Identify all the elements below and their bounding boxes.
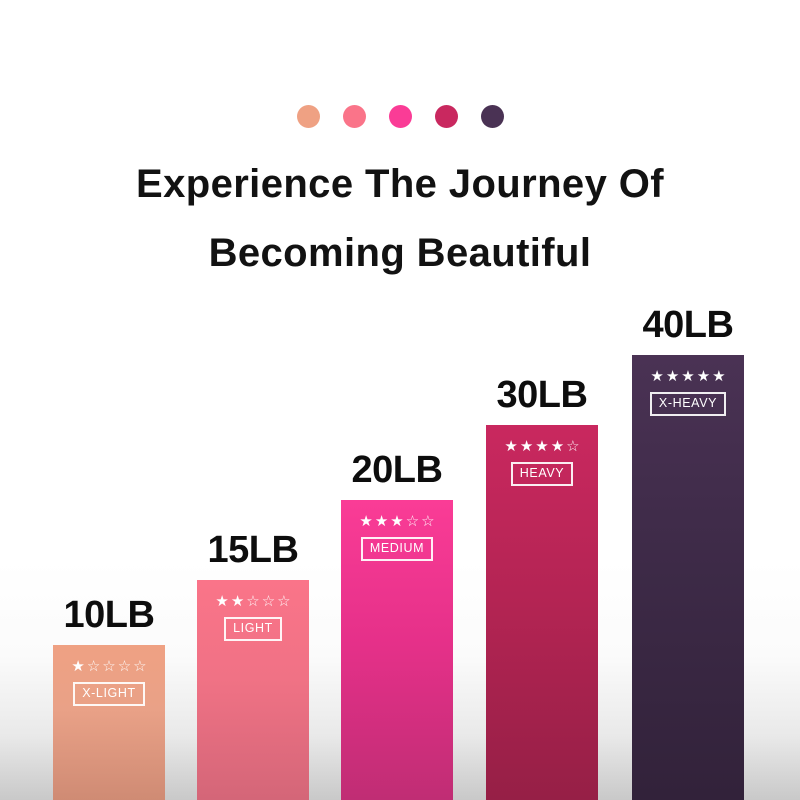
- star-filled-icon: ★: [535, 439, 548, 454]
- bar-fill: ★★★☆☆MEDIUM: [341, 500, 453, 800]
- bar-value-label: 10LB: [64, 594, 155, 645]
- bar-group-x-light[interactable]: 10LB★☆☆☆☆X-LIGHT: [53, 645, 165, 800]
- star-rating: ★★★★★: [650, 369, 725, 384]
- bar-group-medium[interactable]: 20LB★★★☆☆MEDIUM: [341, 500, 453, 800]
- bar-group-light[interactable]: 15LB★★☆☆☆LIGHT: [197, 580, 309, 800]
- level-badge: HEAVY: [511, 462, 573, 486]
- star-filled-icon: ★: [697, 369, 710, 384]
- star-empty-icon: ☆: [102, 659, 115, 674]
- star-filled-icon: ★: [231, 594, 244, 609]
- star-empty-icon: ☆: [133, 659, 146, 674]
- bar-fill: ★★★★★X-HEAVY: [632, 355, 744, 800]
- star-rating: ★☆☆☆☆: [71, 659, 146, 674]
- star-filled-icon: ★: [551, 439, 564, 454]
- star-filled-icon: ★: [504, 439, 517, 454]
- bar-value-label: 15LB: [208, 529, 299, 580]
- bar-group-x-heavy[interactable]: 40LB★★★★★X-HEAVY: [632, 355, 744, 800]
- star-filled-icon: ★: [359, 514, 372, 529]
- star-empty-icon: ☆: [118, 659, 131, 674]
- star-filled-icon: ★: [666, 369, 679, 384]
- star-rating: ★★★☆☆: [359, 514, 434, 529]
- bar-value-label: 40LB: [643, 304, 734, 355]
- bar-fill: ★★☆☆☆LIGHT: [197, 580, 309, 800]
- star-empty-icon: ☆: [277, 594, 290, 609]
- star-filled-icon: ★: [390, 514, 403, 529]
- level-badge: MEDIUM: [361, 537, 433, 561]
- bar-group-heavy[interactable]: 30LB★★★★☆HEAVY: [486, 425, 598, 800]
- star-empty-icon: ☆: [406, 514, 419, 529]
- bar-fill: ★★★★☆HEAVY: [486, 425, 598, 800]
- star-empty-icon: ☆: [87, 659, 100, 674]
- star-filled-icon: ★: [215, 594, 228, 609]
- star-filled-icon: ★: [681, 369, 694, 384]
- star-empty-icon: ☆: [246, 594, 259, 609]
- bar-value-label: 30LB: [497, 374, 588, 425]
- star-filled-icon: ★: [650, 369, 663, 384]
- level-badge: X-LIGHT: [73, 682, 145, 706]
- star-filled-icon: ★: [71, 659, 84, 674]
- level-badge: X-HEAVY: [650, 392, 726, 416]
- star-filled-icon: ★: [375, 514, 388, 529]
- star-filled-icon: ★: [712, 369, 725, 384]
- star-filled-icon: ★: [520, 439, 533, 454]
- bar-value-label: 20LB: [352, 449, 443, 500]
- star-rating: ★★★★☆: [504, 439, 579, 454]
- star-empty-icon: ☆: [262, 594, 275, 609]
- level-badge: LIGHT: [224, 617, 282, 641]
- star-empty-icon: ☆: [566, 439, 579, 454]
- star-empty-icon: ☆: [421, 514, 434, 529]
- bar-fill: ★☆☆☆☆X-LIGHT: [53, 645, 165, 800]
- resistance-bar-chart: 10LB★☆☆☆☆X-LIGHT15LB★★☆☆☆LIGHT20LB★★★☆☆M…: [0, 0, 800, 800]
- star-rating: ★★☆☆☆: [215, 594, 290, 609]
